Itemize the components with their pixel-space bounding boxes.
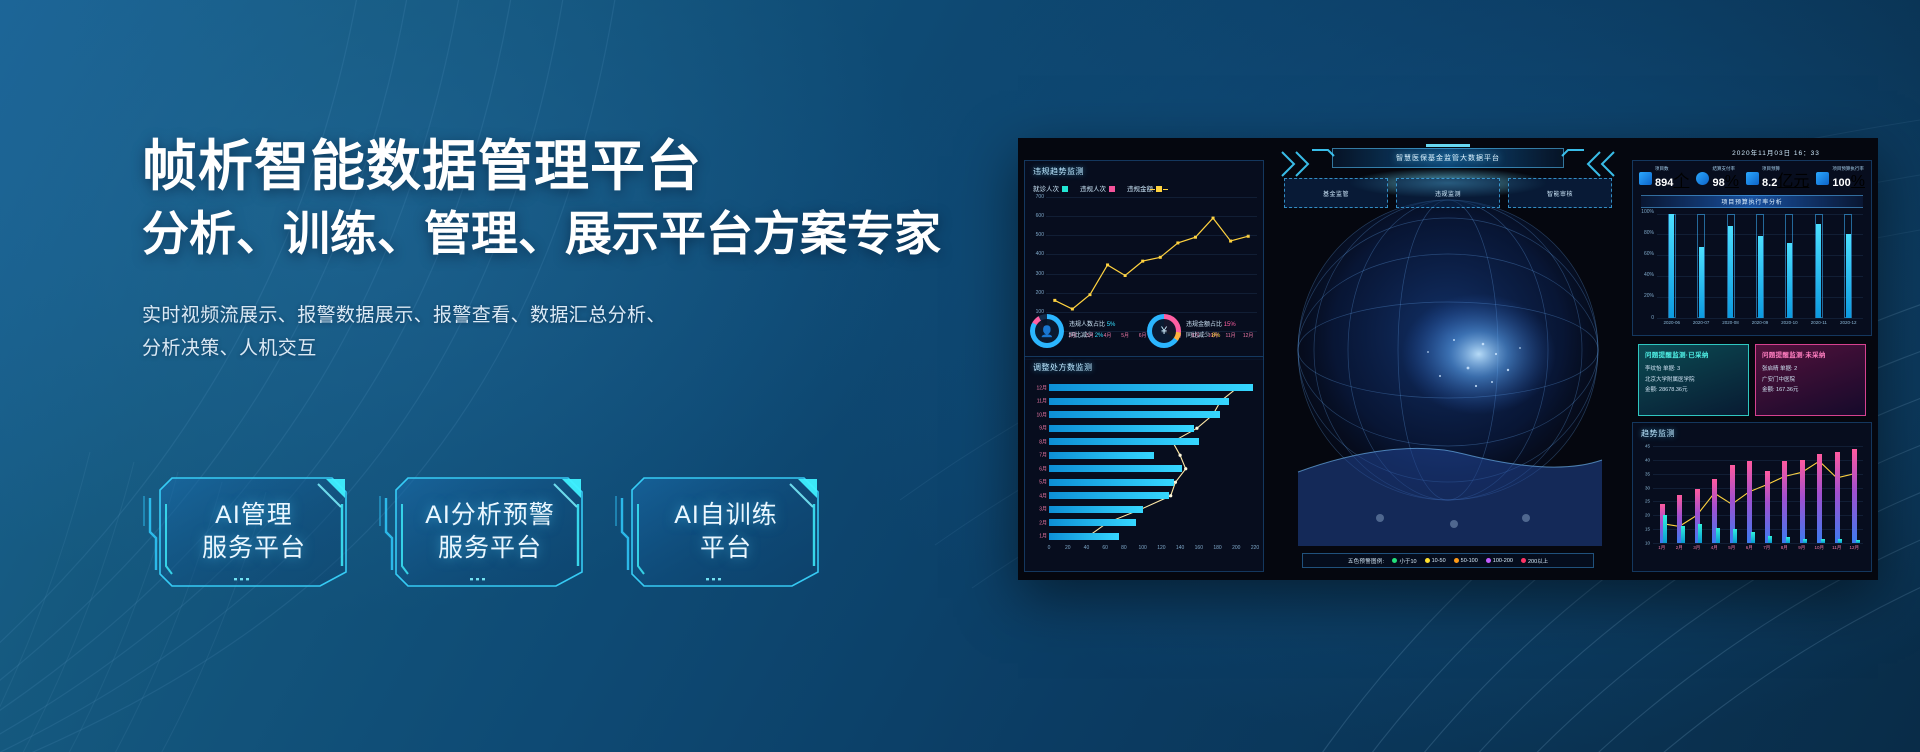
bar-label: 11月 — [1029, 398, 1047, 405]
legend-item-10-50: 10-50 — [1425, 558, 1446, 564]
page-subtitle: 分析、训练、管理、展示平台方案专家 — [142, 203, 902, 264]
cta-label-line-1: AI管理 — [202, 499, 306, 533]
legend-swatch-violations — [1109, 186, 1115, 192]
donut-text: 违规人数占比 5% 同比减少 2% — [1069, 320, 1115, 343]
legend-item-amount: 违规金额 — [1127, 183, 1162, 193]
kpi-settlement-rate: 结算支付率98% — [1696, 167, 1738, 190]
bar-secondary — [1786, 537, 1790, 543]
kpi-value: 100 — [1832, 177, 1850, 189]
bar-main — [1765, 471, 1770, 543]
five-color-alert-legend: 五色预警图例: 小于10 10-50 50-100 100-200 200以上 — [1302, 553, 1594, 568]
bar-label: 4月 — [1029, 492, 1047, 499]
issue-card-title: 问题提醒监测·未采纳 — [1762, 349, 1859, 359]
legend-item-lt10: 小于10 — [1392, 557, 1416, 565]
issue-card-title: 问题提醒监测·已采纳 — [1645, 349, 1742, 359]
bar-main — [1852, 449, 1857, 543]
cta-label-line-1: AI自训练 — [674, 499, 778, 533]
doc-icon — [1639, 172, 1652, 185]
page-title: 帧析智能数据管理平台 — [142, 135, 902, 199]
prescription-adjust-plot: 12月11月10月9月8月7月6月5月4月3月2月1月 — [1049, 381, 1255, 543]
bar-label: 1月 — [1029, 533, 1047, 540]
trend-monitor-chart: 1015202530354045 1月2月3月4月5月6月7月8月9月10月11… — [1635, 444, 1867, 556]
bar-secondary — [1803, 539, 1807, 543]
case-icon — [1816, 172, 1829, 185]
bar-budget-exec — [1844, 214, 1852, 318]
bar-label: 3月 — [1029, 506, 1047, 513]
prescription-adjust-panel: 调整处方数监测 12月11月10月9月8月7月6月5月4月3月2月1月 0204… — [1024, 356, 1264, 572]
issue-card-row: 金额: 28678.36元 — [1645, 385, 1742, 396]
tab-violation-monitor[interactable]: 违规监测 — [1396, 178, 1500, 208]
dashboard-header: 智慧医保基金监管大数据平台 — [1276, 144, 1620, 178]
bar-label: 5月 — [1029, 479, 1047, 486]
donut-ring: ¥ — [1147, 314, 1181, 348]
bar-main — [1782, 461, 1787, 543]
bar-main — [1800, 460, 1805, 543]
budget-execution-panel: 项目数894个 结算支付率98% 项目预算8.2亿元 项目预算执行率100% — [1632, 160, 1872, 336]
violation-trend-legend: 就诊人次 违规人次 违规金额 — [1025, 177, 1263, 195]
kpi-unit: 个 — [1673, 173, 1689, 190]
bar-main — [1747, 461, 1752, 543]
yuan-icon: ¥ — [1147, 314, 1181, 348]
donut-label: 违规金额占比 — [1186, 322, 1222, 328]
tab-smart-audit[interactable]: 智能审核 — [1508, 178, 1612, 208]
cta-button-ai-analysis-alert[interactable]: AI分析预警 服务平台 — [378, 474, 586, 590]
bar-label: 9月 — [1029, 425, 1047, 432]
kpi-label: 项目预算 — [1762, 167, 1809, 172]
bar-prescription — [1049, 452, 1154, 459]
hero-description-line-2: 分析决策、人机交互 — [142, 333, 902, 366]
legend-item-gt200: 200以上 — [1521, 557, 1548, 565]
cta-label-line-2: 平台 — [674, 532, 778, 566]
bar-prescription — [1049, 384, 1253, 391]
bar-secondary — [1698, 524, 1702, 543]
dashboard-right-column: 2020年11月03日 16：33 项目数894个 结算支付率98% 项目预算8… — [1632, 160, 1872, 572]
budget-ribbon-title: 项目预算执行率分析 — [1641, 195, 1863, 208]
trend-x-axis: 1月2月3月4月5月6月7月8月9月10月11月12月 — [1653, 545, 1863, 556]
dashboard-left-column: 违规趋势监测 就诊人次 违规人次 违规金额 010020030040050060… — [1024, 160, 1264, 572]
bar-label: 7月 — [1029, 452, 1047, 459]
bar-label: 6月 — [1029, 465, 1047, 472]
bar-prescription — [1049, 411, 1220, 418]
prescription-adjust-x-axis: 020406080100120140160180200220 — [1049, 545, 1255, 557]
issue-card-accepted[interactable]: 问题提醒监测·已采纳 李纹怡 单据: 3 北京大学附属医学院 金额: 28678… — [1638, 344, 1749, 416]
dashboard-timestamp: 2020年11月03日 16：33 — [1686, 144, 1866, 160]
dashboard-center-column: 智慧医保基金监管大数据平台 基金监管 违规监测 智能审核 五色预警图例: — [1268, 138, 1628, 580]
issue-card-row: 广安门中医院 — [1762, 375, 1859, 386]
donut-text: 违规金额占比 15% 同比减少 8% — [1186, 320, 1236, 343]
bar-prescription — [1049, 438, 1199, 445]
legend-item-100-200: 100-200 — [1486, 558, 1513, 564]
cta-label-line-2: 服务平台 — [202, 532, 306, 566]
kpi-unit: 亿元 — [1777, 173, 1809, 190]
hero-text-block: 帧析智能数据管理平台 分析、训练、管理、展示平台方案专家 实时视频流展示、报警数… — [142, 135, 902, 365]
bar-label: 12月 — [1029, 384, 1047, 391]
tab-fund-supervision[interactable]: 基金监管 — [1284, 178, 1388, 208]
trend-plot — [1653, 446, 1863, 543]
bar-budget-exec — [1785, 214, 1793, 318]
legend-title: 五色预警图例: — [1348, 557, 1385, 565]
donut-sub-value: 2% — [1095, 333, 1104, 339]
kpi-project-count: 项目数894个 — [1639, 167, 1689, 190]
bar-secondary — [1838, 539, 1842, 543]
kpi-unit: % — [1851, 173, 1865, 190]
dashboard-screenshot: 违规趋势监测 就诊人次 违规人次 违规金额 010020030040050060… — [1018, 138, 1878, 580]
bar-prescription — [1049, 519, 1136, 526]
legend-item-violations: 违规人次 — [1080, 183, 1115, 193]
bar-budget-exec — [1815, 214, 1823, 318]
bar-budget-exec — [1697, 214, 1705, 318]
legend-item-visits: 就诊人次 — [1033, 183, 1068, 193]
issue-reminder-cards: 问题提醒监测·已采纳 李纹怡 单据: 3 北京大学附属医学院 金额: 28678… — [1632, 340, 1872, 416]
kpi-value: 8.2 — [1762, 177, 1777, 189]
bar-prescription — [1049, 479, 1174, 486]
china-map-globe — [1268, 172, 1628, 546]
bar-label: 10月 — [1029, 411, 1047, 418]
bar-secondary — [1733, 529, 1737, 543]
violation-trend-title: 违规趋势监测 — [1025, 161, 1263, 177]
bar-prescription — [1049, 506, 1143, 513]
budget-execution-chart: 020%40%60%80%100% 2020-062020-072020-082… — [1635, 212, 1867, 332]
legend-item-50-100: 50-100 — [1454, 558, 1478, 564]
cta-label: AI管理 服务平台 — [186, 499, 306, 566]
dashboard-tabs: 基金监管 违规监测 智能审核 — [1284, 178, 1612, 208]
issue-card-row: 张启晴 单据: 2 — [1762, 364, 1859, 375]
donut-person-ratio: 👤 违规人数占比 5% 同比减少 2% — [1030, 314, 1143, 348]
donut-sub-label: 同比减少 — [1069, 333, 1093, 339]
kpi-row: 项目数894个 结算支付率98% 项目预算8.2亿元 项目预算执行率100% — [1633, 161, 1871, 192]
kpi-value: 894 — [1655, 177, 1673, 189]
donut-value: 5% — [1107, 322, 1116, 328]
hero-description-line-1: 实时视频流展示、报警数据展示、报警查看、数据汇总分析、 — [142, 300, 902, 333]
legend-swatch-visits — [1062, 186, 1068, 192]
bar-budget-exec — [1668, 214, 1676, 318]
issue-card-not-accepted[interactable]: 问题提醒监测·未采纳 张启晴 单据: 2 广安门中医院 金额: 167.36元 — [1755, 344, 1866, 416]
cta-button-ai-management[interactable]: AI管理 服务平台 — [142, 474, 350, 590]
violation-ratio-donuts: 👤 违规人数占比 5% 同比减少 2% ¥ 违规金额占比 15% 同比减少 8% — [1024, 308, 1264, 348]
legend-swatch-amount — [1156, 186, 1162, 192]
issue-card-row: 李纹怡 单据: 3 — [1645, 364, 1742, 375]
bar-prescription — [1049, 398, 1229, 405]
bar-secondary — [1681, 526, 1685, 543]
check-icon — [1696, 172, 1709, 185]
bar-budget-exec — [1756, 214, 1764, 318]
cta-label: AI自训练 平台 — [658, 499, 778, 566]
budget-plot — [1657, 214, 1863, 318]
cta-label-line-2: 服务平台 — [425, 532, 555, 566]
budget-y-axis: 020%40%60%80%100% — [1635, 212, 1655, 318]
bar-secondary — [1716, 528, 1720, 543]
bar-secondary — [1768, 536, 1772, 543]
bar-budget-exec — [1727, 214, 1735, 318]
bar-prescription — [1049, 492, 1169, 499]
donut-value: 15% — [1224, 322, 1236, 328]
donut-ring: 👤 — [1030, 314, 1064, 348]
cta-label: AI分析预警 服务平台 — [409, 499, 555, 566]
donut-label: 违规人数占比 — [1069, 322, 1105, 328]
trend-monitor-panel: 趋势监测 1015202530354045 1月2月3月4月5月6月7月8月9月… — [1632, 422, 1872, 572]
kpi-project-budget: 项目预算8.2亿元 — [1746, 167, 1809, 190]
bar-secondary — [1856, 540, 1860, 543]
bar-secondary — [1663, 515, 1667, 543]
kpi-unit: % — [1725, 173, 1739, 190]
budget-x-axis: 2020-062020-072020-082020-092020-102020-… — [1657, 320, 1863, 332]
hero-description: 实时视频流展示、报警数据展示、报警查看、数据汇总分析、 分析决策、人机交互 — [142, 300, 902, 365]
kpi-label: 项目预算执行率 — [1832, 167, 1865, 172]
kpi-label: 项目数 — [1655, 167, 1689, 172]
donut-amount-ratio: ¥ 违规金额占比 15% 同比减少 8% — [1147, 314, 1260, 348]
bar-secondary — [1751, 532, 1755, 543]
bar-label: 2月 — [1029, 519, 1047, 526]
bar-secondary — [1821, 539, 1825, 543]
bar-prescription — [1049, 465, 1182, 472]
trend-monitor-title: 趋势监测 — [1633, 423, 1871, 439]
bar-prescription — [1049, 425, 1194, 432]
money-icon — [1746, 172, 1759, 185]
kpi-budget-exec-rate: 项目预算执行率100% — [1816, 167, 1865, 190]
prescription-adjust-chart: 12月11月10月9月8月7月6月5月4月3月2月1月 020406080100… — [1029, 379, 1259, 557]
donut-sub-value: 8% — [1212, 333, 1221, 339]
bar-prescription — [1049, 533, 1119, 540]
issue-card-row: 北京大学附属医学院 — [1645, 375, 1742, 386]
issue-card-row: 金额: 167.36元 — [1762, 385, 1859, 396]
person-icon: 👤 — [1030, 314, 1064, 348]
bar-label: 8月 — [1029, 438, 1047, 445]
donut-sub-label: 同比减少 — [1186, 333, 1210, 339]
trend-y-axis: 1015202530354045 — [1635, 446, 1651, 543]
kpi-label: 结算支付率 — [1712, 167, 1738, 172]
bar-main — [1835, 452, 1840, 543]
cta-button-row: AI管理 服务平台 AI分析预警 服务平台 — [142, 474, 822, 590]
bar-main — [1817, 454, 1822, 543]
cta-label-line-1: AI分析预警 — [425, 499, 555, 533]
prescription-adjust-title: 调整处方数监测 — [1025, 357, 1263, 373]
cta-button-ai-self-training[interactable]: AI自训练 平台 — [614, 474, 822, 590]
kpi-value: 98 — [1712, 177, 1724, 189]
